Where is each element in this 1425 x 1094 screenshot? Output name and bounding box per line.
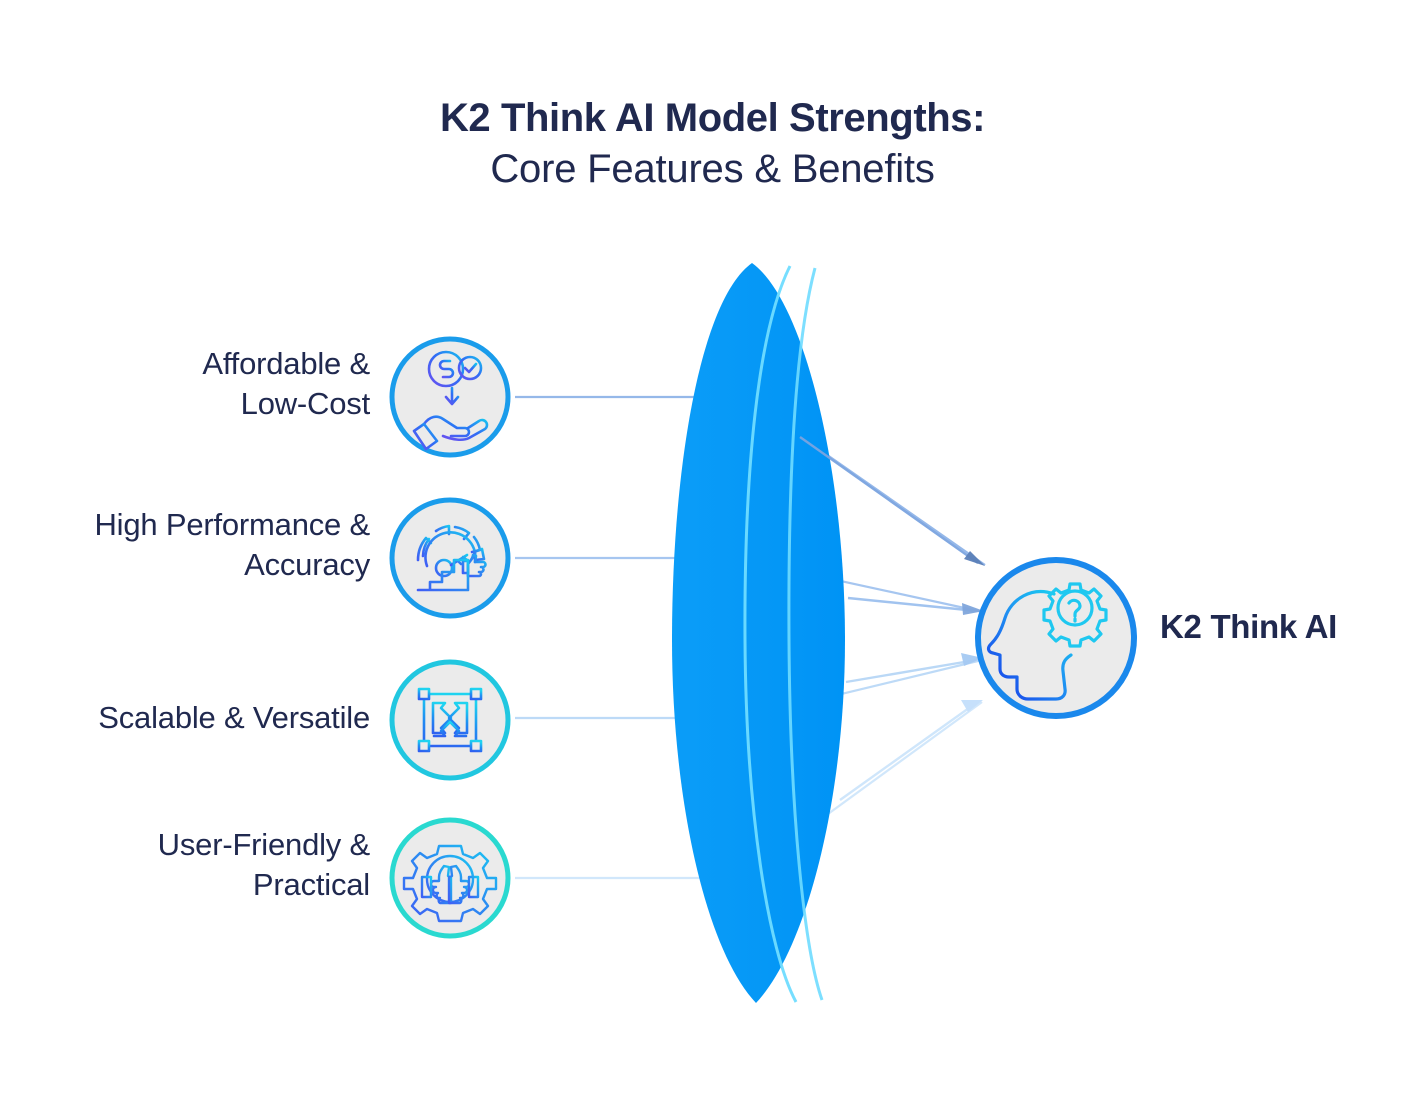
- feature-label-performance: High Performance & Accuracy: [20, 505, 370, 584]
- feature-label-affordable-line1: Affordable &: [202, 346, 370, 381]
- arrow-line-scalable: [846, 660, 976, 682]
- infographic-canvas: K2 Think AI Model Strengths: Core Featur…: [0, 0, 1425, 1094]
- feature-label-friendly-line2: Practical: [253, 867, 370, 902]
- feature-icon-friendly[interactable]: [392, 820, 508, 936]
- feature-label-scalable: Scalable & Versatile: [20, 698, 370, 738]
- output-label: K2 Think AI: [1160, 608, 1337, 646]
- feature-label-performance-line2: Accuracy: [244, 547, 370, 582]
- output-icon-k2-think-ai[interactable]: [978, 560, 1134, 716]
- feature-icon-scalable[interactable]: [392, 662, 508, 778]
- feature-label-performance-line1: High Performance &: [94, 507, 370, 542]
- feature-icon-affordable[interactable]: [392, 339, 508, 455]
- feature-icon-performance[interactable]: [392, 500, 508, 616]
- center-funnel-lens: [672, 263, 845, 1003]
- arrow-line-friendly: [840, 703, 976, 800]
- feature-label-affordable: Affordable & Low-Cost: [20, 344, 370, 423]
- feature-label-affordable-line2: Low-Cost: [241, 386, 370, 421]
- feature-label-friendly-line1: User-Friendly &: [158, 827, 370, 862]
- feature-label-friendly: User-Friendly & Practical: [20, 825, 370, 904]
- arrow-line-performance: [848, 598, 977, 611]
- feature-label-scalable-line1: Scalable & Versatile: [98, 700, 370, 735]
